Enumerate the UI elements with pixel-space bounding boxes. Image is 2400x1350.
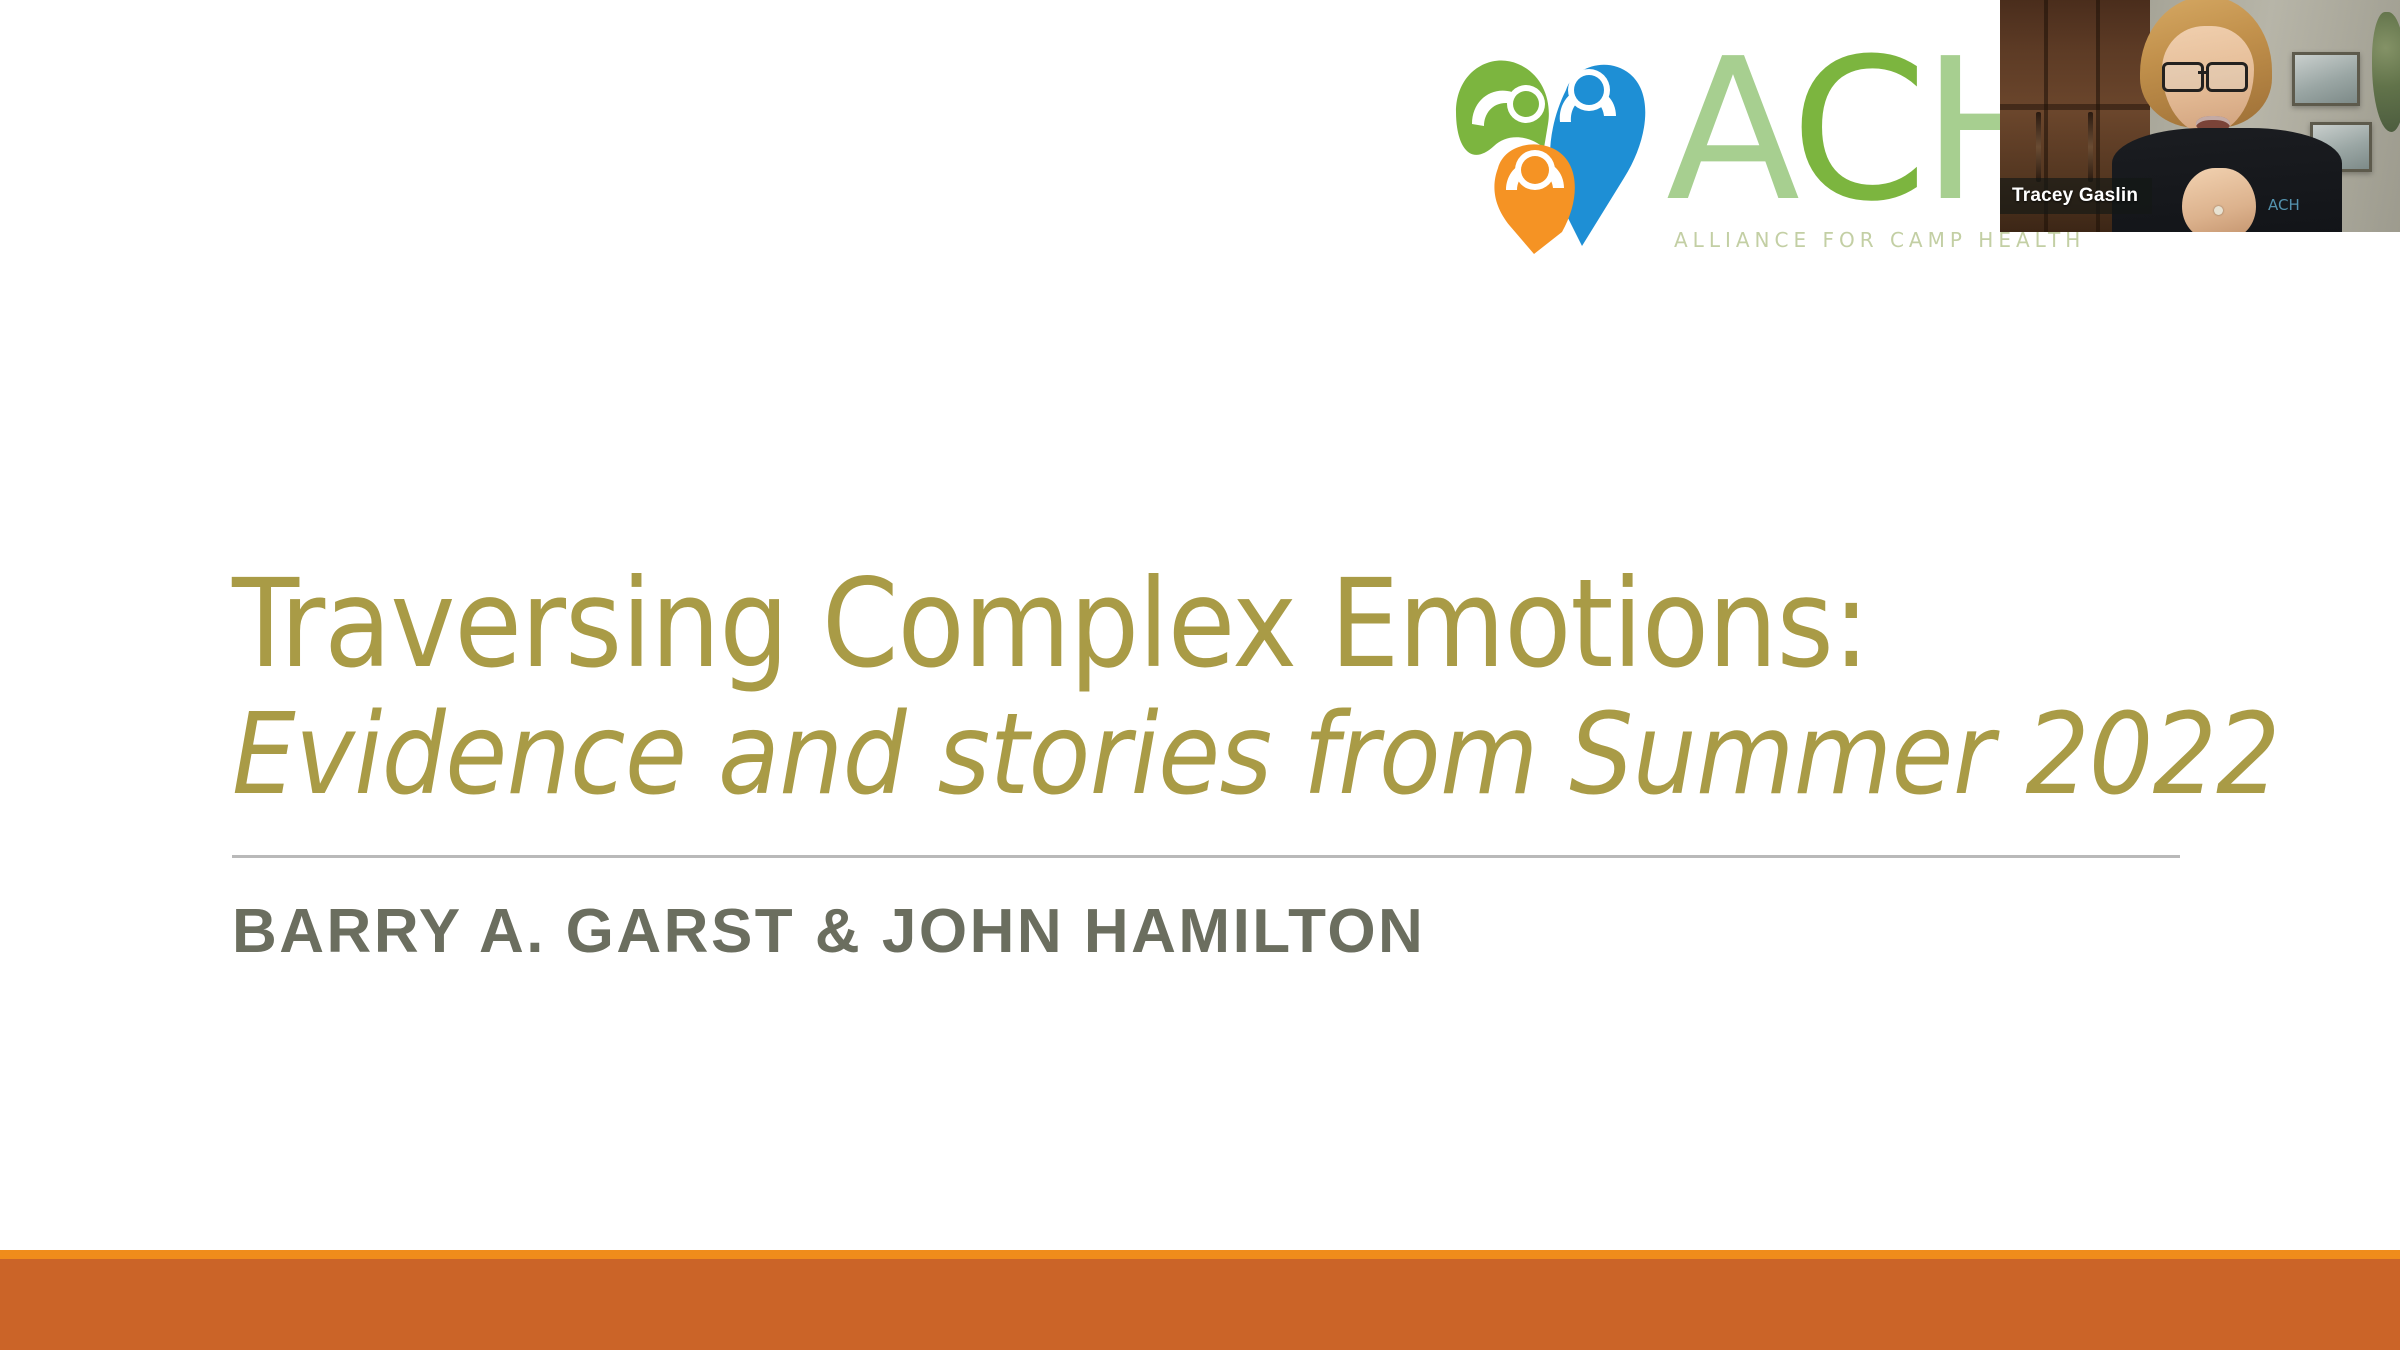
participant-name-badge: Tracey Gaslin	[2000, 178, 2152, 214]
footer-accent-stripe	[0, 1250, 2400, 1259]
finger-ring	[2214, 206, 2223, 215]
framed-picture	[2292, 52, 2360, 106]
footer-bar	[0, 1259, 2400, 1350]
eyeglasses-bridge	[2198, 71, 2208, 74]
cabinet-handle	[2036, 112, 2041, 182]
ach-wordmark: ACH ALLIANCE FOR CAMP HEALTH	[1666, 38, 2028, 268]
shirt-ach-logo: ACH	[2268, 196, 2300, 214]
logo-letter-a: A	[1666, 17, 1791, 245]
slide-authors: BARRY A. GARST & JOHN HAMILTON	[232, 896, 2182, 967]
logo-letter-c: C	[1791, 17, 1922, 245]
eyeglasses-lens-right	[2206, 62, 2248, 92]
person-hands	[2182, 168, 2256, 232]
slide-title: Traversing Complex Emotions:	[232, 560, 2182, 689]
eyeglasses-lens-left	[2162, 62, 2204, 92]
ach-logo: ACH ALLIANCE FOR CAMP HEALTH	[1448, 38, 2028, 268]
cabinet-shelf	[2000, 104, 2150, 110]
slide-subtitle: Evidence and stories from Summer 2022	[232, 693, 2182, 818]
title-block: Traversing Complex Emotions: Evidence an…	[232, 560, 2182, 967]
ach-heart-people-logo-icon	[1448, 50, 1688, 260]
ach-letters: ACH	[1666, 38, 2006, 224]
webcam-video-panel[interactable]: ACH Tracey Gaslin	[2000, 0, 2400, 232]
title-divider	[232, 855, 2180, 858]
participant-name-label: Tracey Gaslin	[2012, 185, 2138, 207]
presentation-slide: ACH ALLIANCE FOR CAMP HEALTH ACH Tracey …	[0, 0, 2400, 1350]
cabinet-handle	[2088, 112, 2093, 182]
